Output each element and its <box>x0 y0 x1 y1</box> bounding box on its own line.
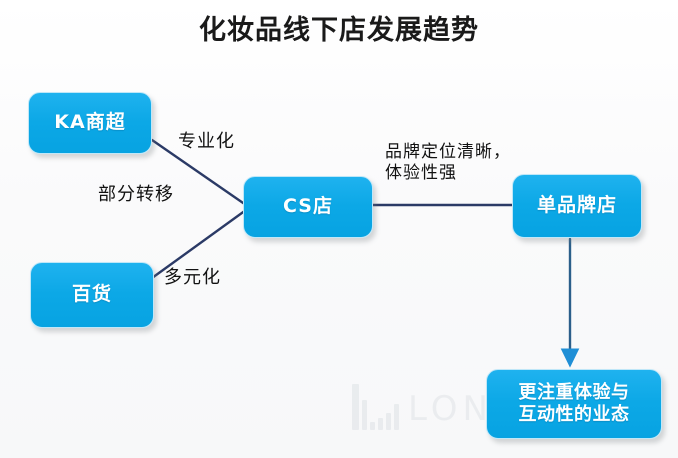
node-experience-interaction-format[interactable]: 更注重体验与 互动性的业态 <box>486 369 662 439</box>
node-department-store[interactable]: 百货 <box>30 262 154 328</box>
node-ka-supermarket[interactable]: KA商超 <box>28 92 152 154</box>
edge-label-brand-positioning: 品牌定位清晰， 体验性强 <box>385 142 511 185</box>
edge-label-specialize: 专业化 <box>178 131 235 154</box>
node-single-brand-store[interactable]: 单品牌店 <box>512 174 642 238</box>
edge-label-partial-transfer: 部分转移 <box>98 184 174 207</box>
diagram-canvas: 化妆品线下店发展趋势 LONGRIDGE KA商超 百货 CS店 单品牌店 更注… <box>0 0 678 458</box>
node-cs-store[interactable]: CS店 <box>243 176 373 238</box>
edge-label-diversify: 多元化 <box>164 267 221 290</box>
